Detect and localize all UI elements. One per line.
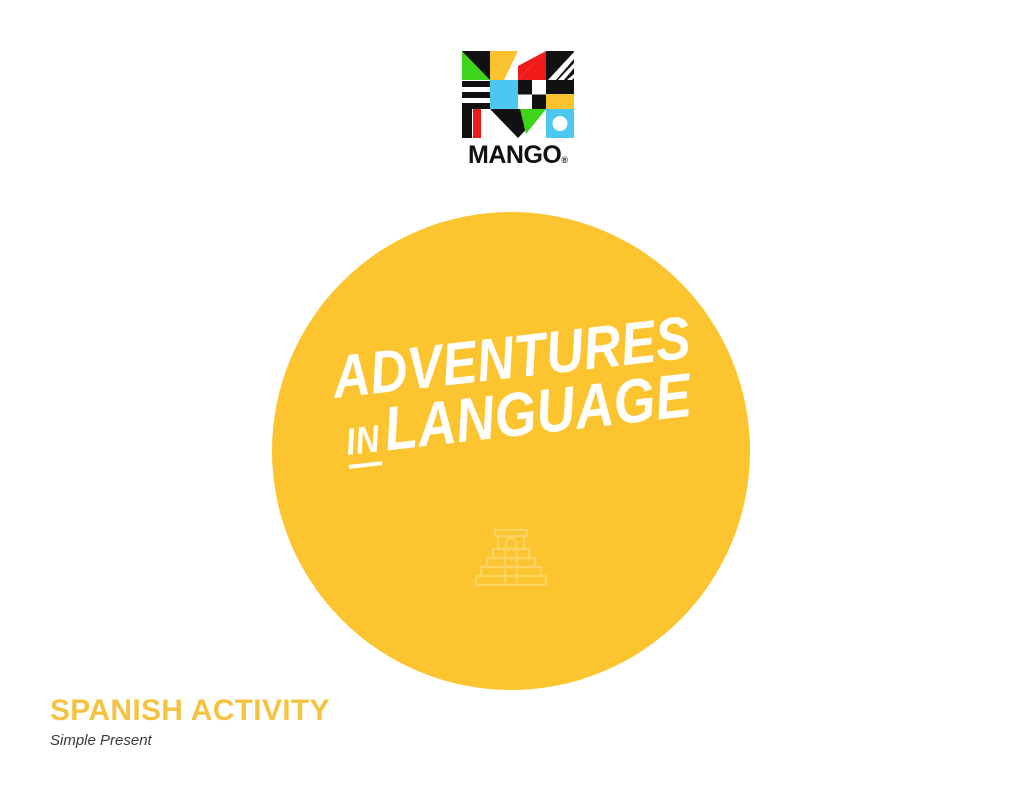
logo-tile-cyan-solid xyxy=(490,80,518,109)
logo-tile-black-diagonal-stripes xyxy=(546,51,574,80)
logo-tile-yellow-triangle-on-white xyxy=(490,51,518,80)
badge-title-word-in: IN xyxy=(344,419,383,469)
logo-tile-checkerboard xyxy=(518,80,546,109)
mango-wordmark: MANGO® xyxy=(462,143,574,168)
activity-subtitle: Simple Present xyxy=(50,733,550,750)
mango-logo-mark xyxy=(462,51,574,139)
logo-tile-green-triangle-down-right xyxy=(518,109,546,138)
logo-tile-cyan-circle xyxy=(546,109,574,138)
mayan-pyramid-icon xyxy=(469,522,553,606)
badge-title: ADVENTURES INLANGUAGE xyxy=(330,310,701,464)
mango-brand-logo: MANGO® xyxy=(462,51,574,168)
logo-tile-black-white-stripes xyxy=(462,80,490,109)
adventures-in-language-badge: ADVENTURES INLANGUAGE xyxy=(272,212,750,690)
logo-tile-green-triangle-on-black xyxy=(462,51,490,80)
activity-footer: SPANISH ACTIVITY Simple Present xyxy=(50,695,550,749)
activity-title: SPANISH ACTIVITY xyxy=(50,695,550,727)
slide-canvas: MANGO® ADVENTURES INLANGUAGE xyxy=(0,0,1024,791)
logo-tile-black-red-bars xyxy=(462,109,490,138)
registered-trademark-symbol: ® xyxy=(561,155,568,165)
logo-tile-black-over-yellow xyxy=(546,80,574,109)
logo-tile-red-triangle-on-white xyxy=(518,51,546,80)
mango-wordmark-text: MANGO xyxy=(468,141,561,169)
logo-tile-black-triangle-down-left xyxy=(490,109,518,138)
